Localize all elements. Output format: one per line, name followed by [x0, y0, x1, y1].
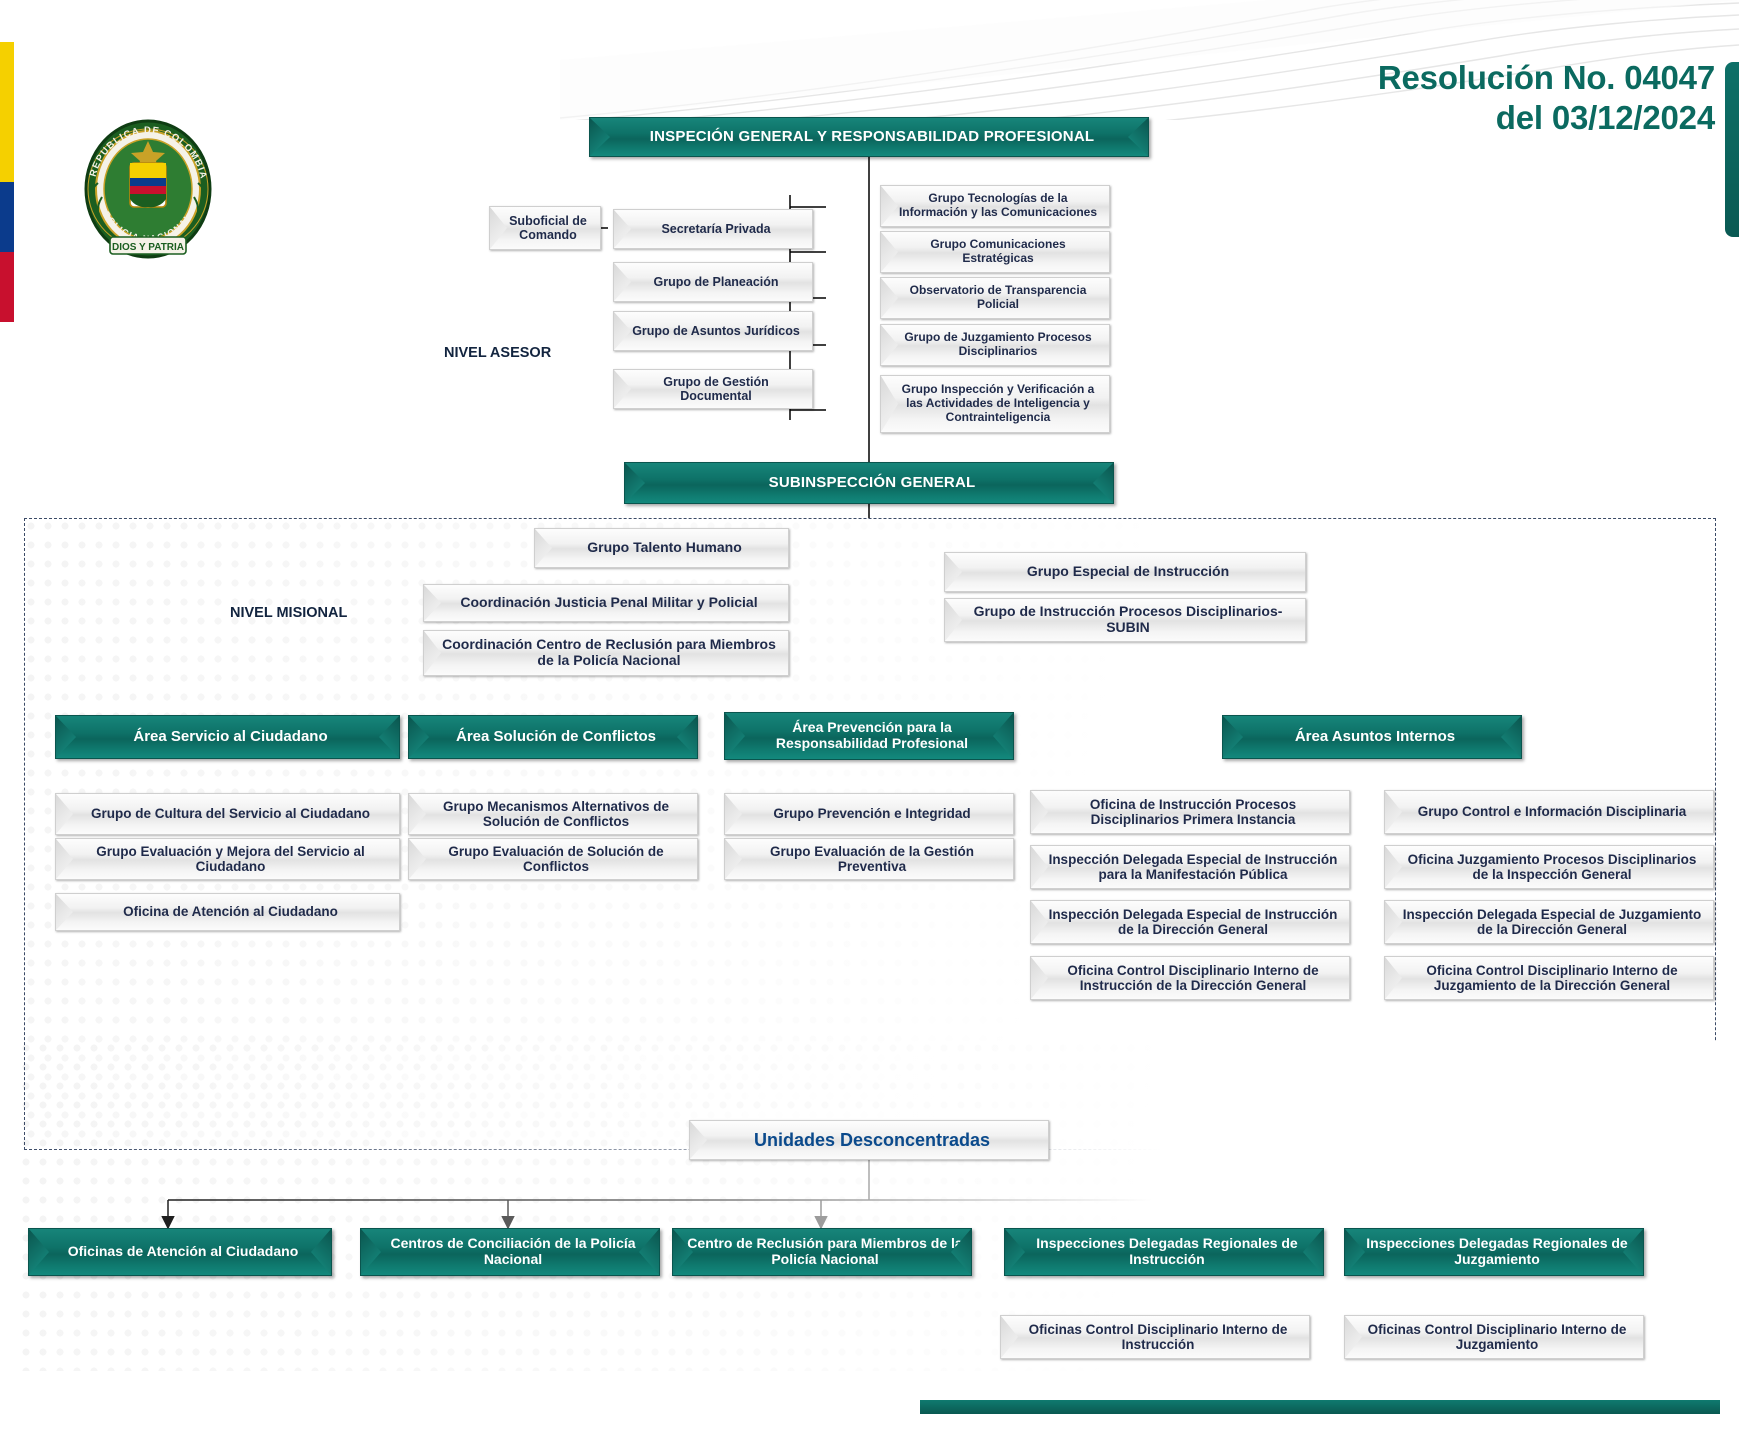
node-grupo-planeacion[interactable]: Grupo de Planeación — [613, 262, 813, 302]
node-inspeccion-delegada-juzgamiento-direccion[interactable]: Inspección Delegada Especial de Juzgamie… — [1384, 900, 1714, 944]
flag-yellow-band — [0, 42, 14, 182]
node-inspecciones-regionales-juzgamiento[interactable]: Inspecciones Delegadas Regionales de Juz… — [1344, 1228, 1644, 1276]
node-subinspeccion-general[interactable]: SUBINSPECCIÓN GENERAL — [624, 462, 1114, 504]
node-grupo-tecnologias-informacion[interactable]: Grupo Tecnologías de la Información y la… — [880, 185, 1110, 227]
node-oficinas-control-interno-juzgamiento[interactable]: Oficinas Control Disciplinario Interno d… — [1344, 1315, 1644, 1359]
node-oficina-control-juzgamiento-direccion[interactable]: Oficina Control Disciplinario Interno de… — [1384, 956, 1714, 1000]
node-grupo-evaluacion-mejora-servicio[interactable]: Grupo Evaluación y Mejora del Servicio a… — [55, 838, 400, 880]
node-inspeccion-delegada-instruccion-direccion[interactable]: Inspección Delegada Especial de Instrucc… — [1030, 900, 1350, 944]
node-grupo-instruccion-procesos-subin[interactable]: Grupo de Instrucción Procesos Disciplina… — [944, 598, 1306, 642]
node-oficina-control-instruccion-direccion[interactable]: Oficina Control Disciplinario Interno de… — [1030, 956, 1350, 1000]
node-suboficial-comando[interactable]: Suboficial de Comando — [489, 206, 601, 250]
node-grupo-evaluacion-solucion-conflictos[interactable]: Grupo Evaluación de Solución de Conflict… — [408, 838, 698, 880]
title-line-2: del 03/12/2024 — [1075, 98, 1715, 138]
node-grupo-control-informacion-disciplinaria[interactable]: Grupo Control e Información Disciplinari… — [1384, 790, 1714, 834]
node-oficina-instruccion-primera-instancia[interactable]: Oficina de Instrucción Procesos Discipli… — [1030, 790, 1350, 834]
node-unidades-desconcentradas[interactable]: Unidades Desconcentradas — [689, 1120, 1049, 1160]
node-grupo-inspeccion-verificacion[interactable]: Grupo Inspección y Verificación a las Ac… — [880, 375, 1110, 433]
node-secretaria-privada[interactable]: Secretaría Privada — [613, 209, 813, 249]
label-nivel-misional: NIVEL MISIONAL — [230, 605, 410, 621]
label-nivel-asesor: NIVEL ASESOR — [444, 345, 604, 361]
node-observatorio-transparencia[interactable]: Observatorio de Transparencia Policial — [880, 277, 1110, 319]
node-coordinacion-centro-reclusion[interactable]: Coordinación Centro de Reclusión para Mi… — [423, 630, 789, 676]
page-title: Resolución No. 04047 del 03/12/2024 — [1075, 58, 1715, 139]
node-coordinacion-justicia-penal[interactable]: Coordinación Justicia Penal Militar y Po… — [423, 584, 789, 622]
node-grupo-especial-instruccion[interactable]: Grupo Especial de Instrucción — [944, 552, 1306, 592]
right-edge-tab — [1725, 62, 1739, 237]
node-centro-reclusion-miembros[interactable]: Centro de Reclusión para Miembros de la … — [672, 1228, 972, 1276]
node-area-prevencion-responsabilidad[interactable]: Área Prevención para la Responsabilidad … — [724, 712, 1014, 760]
node-area-solucion-conflictos[interactable]: Área Solución de Conflictos — [408, 715, 698, 759]
colombia-flag-stripe — [0, 42, 14, 322]
node-grupo-comunicaciones-estrategicas[interactable]: Grupo Comunicaciones Estratégicas — [880, 231, 1110, 273]
flag-blue-band — [0, 182, 14, 252]
flag-red-band — [0, 252, 14, 322]
node-grupo-gestion-documental[interactable]: Grupo de Gestión Documental — [613, 369, 813, 409]
footer-accent-bar — [920, 1400, 1720, 1414]
node-centros-conciliacion[interactable]: Centros de Conciliación de la Policía Na… — [360, 1228, 660, 1276]
node-oficina-juzgamiento-inspeccion-general[interactable]: Oficina Juzgamiento Procesos Disciplinar… — [1384, 845, 1714, 889]
node-grupo-juzgamiento-procesos[interactable]: Grupo de Juzgamiento Procesos Disciplina… — [880, 324, 1110, 366]
node-inspecciones-regionales-instruccion[interactable]: Inspecciones Delegadas Regionales de Ins… — [1004, 1228, 1324, 1276]
svg-text:DIOS Y PATRIA: DIOS Y PATRIA — [112, 242, 184, 253]
node-area-asuntos-internos[interactable]: Área Asuntos Internos — [1222, 715, 1522, 759]
node-grupo-prevencion-integridad[interactable]: Grupo Prevención e Integridad — [724, 793, 1014, 835]
police-emblem-icon: REPUBLICA DE COLOMBIA POLICIA NACIONAL D… — [68, 105, 228, 270]
node-grupo-talento-humano[interactable]: Grupo Talento Humano — [534, 528, 789, 568]
node-grupo-asuntos-juridicos[interactable]: Grupo de Asuntos Jurídicos — [613, 311, 813, 351]
node-area-servicio-ciudadano[interactable]: Área Servicio al Ciudadano — [55, 715, 400, 759]
title-line-1: Resolución No. 04047 — [1075, 58, 1715, 98]
node-grupo-evaluacion-gestion-preventiva[interactable]: Grupo Evaluación de la Gestión Preventiv… — [724, 838, 1014, 880]
node-grupo-cultura-servicio[interactable]: Grupo de Cultura del Servicio al Ciudada… — [55, 793, 400, 835]
node-inspeccion-general[interactable]: INSPECIÓN GENERAL Y RESPONSABILIDAD PROF… — [589, 117, 1149, 157]
node-oficinas-control-interno-instruccion[interactable]: Oficinas Control Disciplinario Interno d… — [1000, 1315, 1310, 1359]
node-grupo-mecanismos-alternativos[interactable]: Grupo Mecanismos Alternativos de Solució… — [408, 793, 698, 835]
node-inspeccion-delegada-manifestacion-publica[interactable]: Inspección Delegada Especial de Instrucc… — [1030, 845, 1350, 889]
node-oficina-atencion-ciudadano[interactable]: Oficina de Atención al Ciudadano — [55, 893, 400, 931]
node-oficinas-atencion-ciudadano[interactable]: Oficinas de Atención al Ciudadano — [28, 1228, 332, 1276]
